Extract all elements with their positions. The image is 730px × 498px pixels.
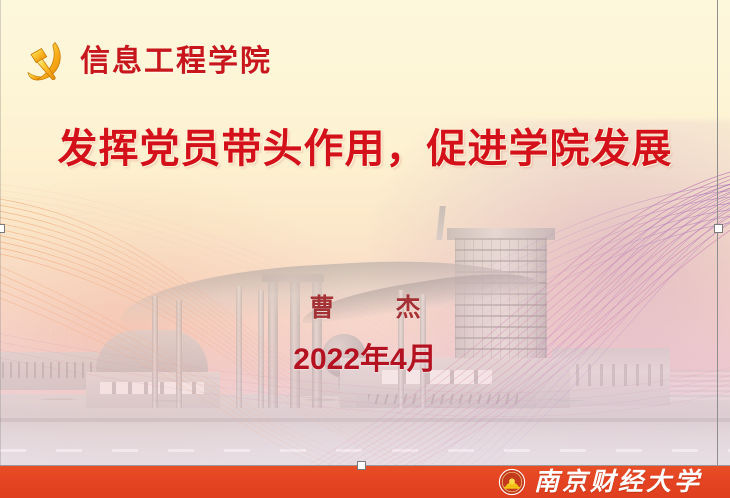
university-name: 南京财经大学	[534, 470, 702, 495]
selection-border-left	[0, 0, 1, 466]
resize-handle-bottom[interactable]	[357, 461, 366, 470]
photo-kerb	[0, 418, 730, 422]
selection-border-right	[717, 0, 718, 466]
resize-handle-right[interactable]	[714, 224, 723, 233]
presenter-name[interactable]: 曹 杰	[0, 288, 730, 324]
university-logo: 南京财经大学	[498, 468, 702, 496]
header-logo-row: 信息工程学院	[22, 38, 272, 86]
presentation-date[interactable]: 2022年4月	[0, 334, 730, 378]
university-seal-icon	[498, 468, 526, 496]
presentation-slide[interactable]: 信息工程学院 发挥党员带头作用，促进学院发展 曹 杰 2022年4月 激活 Wi…	[0, 0, 730, 498]
footer-bar: 南京财经大学	[0, 466, 730, 498]
college-name-title: 信息工程学院	[80, 47, 272, 77]
photo-road-markings	[0, 449, 730, 452]
resize-handle-left[interactable]	[0, 224, 5, 233]
slide-main-title[interactable]: 发挥党员带头作用，促进学院发展	[0, 126, 730, 173]
party-hammer-sickle-icon	[22, 38, 70, 86]
